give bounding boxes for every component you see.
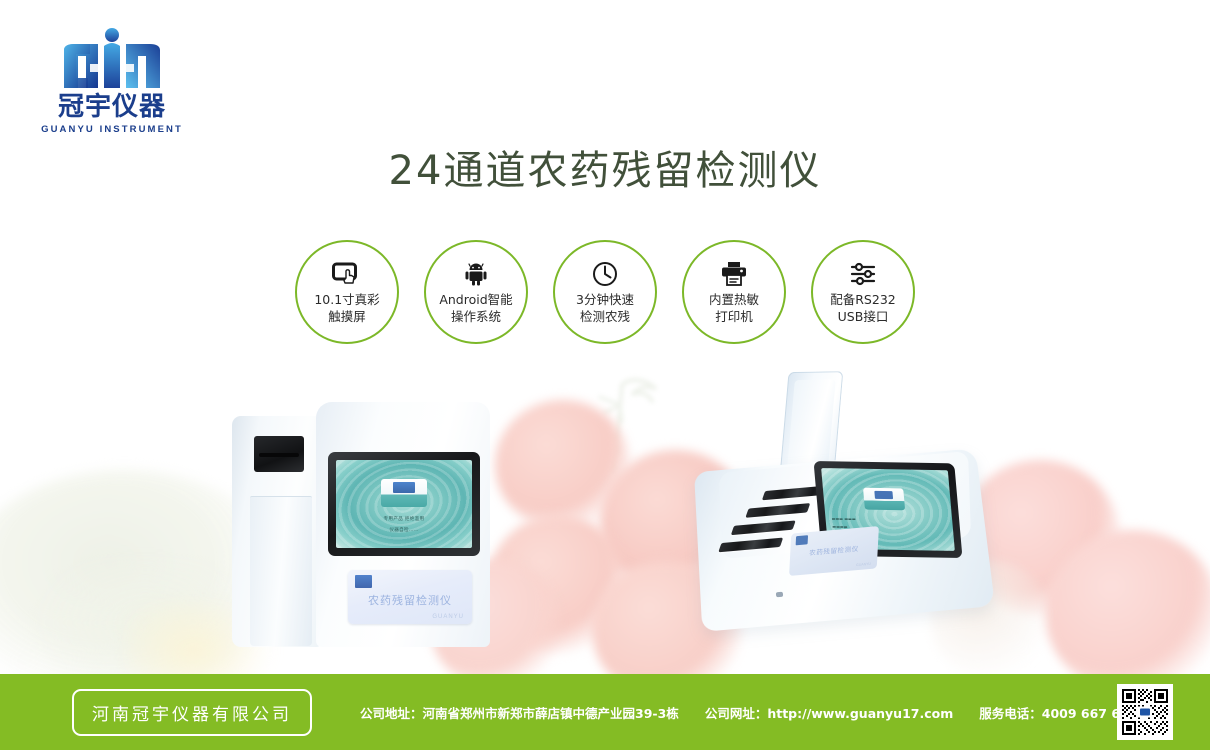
channel-row bbox=[718, 538, 783, 553]
feature-touchscreen[interactable]: 10.1寸真彩 触摸屏 bbox=[295, 240, 399, 344]
feature-list: 10.1寸真彩 触摸屏 Android智能 操作系统 bbox=[0, 240, 1210, 352]
qr-code[interactable] bbox=[1117, 684, 1173, 740]
left-device-image: 专用产品 拒绝滥用 仪器自检…… 农药残留检测仪 GUANYU bbox=[232, 402, 490, 647]
panel-label-sub: GUANYU bbox=[432, 614, 464, 620]
brand-logo: 冠宇仪器 GUANYU INSTRUMENT bbox=[36, 26, 188, 138]
footer-address: 公司地址：河南省郑州市新郑市薛店镇中德产业园39-3栋 bbox=[360, 703, 679, 722]
tomato-watermark bbox=[495, 400, 630, 530]
qr-code-pattern bbox=[1120, 687, 1170, 737]
screen-logo-card bbox=[864, 488, 906, 511]
footer-bar: 河南冠宇仪器有限公司 公司地址：河南省郑州市新郑市薛店镇中德产业园39-3栋 公… bbox=[0, 674, 1210, 750]
feature-label: 10.1寸真彩 触摸屏 bbox=[314, 292, 379, 326]
feature-fast-detection[interactable]: 3分钟快速 检测农残 bbox=[553, 240, 657, 344]
panel-label-sub: GUANYU bbox=[856, 562, 871, 567]
printer-slot bbox=[254, 436, 304, 472]
product-poster-page: 冠宇仪器 GUANYU INSTRUMENT 24通道农药残留检测仪 10.1寸… bbox=[0, 0, 1210, 750]
printer-icon bbox=[720, 259, 748, 289]
screen-text-line2: 仪器自检…… bbox=[336, 527, 472, 536]
feature-label: 内置热敏 打印机 bbox=[709, 292, 759, 326]
brand-name-cn: 冠宇仪器 bbox=[36, 94, 188, 121]
android-icon bbox=[463, 259, 489, 289]
left-device-panel-label: 农药残留检测仪 GUANYU bbox=[348, 570, 472, 624]
status-indicator bbox=[776, 592, 783, 598]
footer-phone-label: 服务电话： bbox=[979, 706, 1042, 721]
tomato-watermark bbox=[488, 515, 628, 653]
channel-row bbox=[731, 520, 796, 535]
footer-website[interactable]: 公司网址：http://www.guanyu17.com bbox=[705, 703, 953, 722]
footer-company-name: 河南冠宇仪器有限公司 bbox=[72, 689, 312, 736]
touchscreen-icon bbox=[332, 259, 362, 289]
footer-website-value[interactable]: http://www.guanyu17.com bbox=[767, 706, 953, 721]
feature-thermal-printer[interactable]: 内置热敏 打印机 bbox=[682, 240, 786, 344]
footer-contact-info: 公司地址：河南省郑州市新郑市薛店镇中德产业园39-3栋 公司网址：http://… bbox=[360, 703, 1137, 722]
screen-logo-card bbox=[381, 479, 427, 507]
qr-center-logo bbox=[1138, 707, 1152, 718]
left-device-side-panel bbox=[232, 416, 320, 647]
footer-address-label: 公司地址： bbox=[360, 706, 423, 721]
left-device-screen: 专用产品 拒绝滥用 仪器自检…… bbox=[336, 460, 472, 548]
feature-android-os[interactable]: Android智能 操作系统 bbox=[424, 240, 528, 344]
left-device-body: 专用产品 拒绝滥用 仪器自检…… 农药残留检测仪 GUANYU bbox=[316, 402, 490, 647]
screen-text-line1: 专用产品 拒绝滥用 bbox=[336, 516, 472, 525]
tomato-watermark bbox=[1045, 530, 1210, 695]
sample-door bbox=[250, 496, 312, 646]
right-device-image: ▬▬▬ ▬▬▬▬▬▬▬ 农药残留检测仪 GUANYU bbox=[690, 370, 990, 645]
footer-phone: 服务电话：4009 667 696 bbox=[979, 703, 1137, 722]
panel-logo-icon bbox=[355, 575, 372, 588]
brand-name-en: GUANYU INSTRUMENT bbox=[36, 124, 188, 135]
panel-label-text: 农药残留检测仪 bbox=[348, 592, 472, 608]
guanyu-logo-mark bbox=[60, 26, 164, 92]
tomato-vine-watermark bbox=[560, 375, 690, 495]
right-device-panel-label: 农药残留检测仪 GUANYU bbox=[789, 526, 879, 576]
panel-logo-icon bbox=[796, 535, 808, 545]
footer-website-label: 公司网址： bbox=[705, 706, 768, 721]
clock-icon bbox=[592, 259, 618, 289]
feature-label: 3分钟快速 检测农残 bbox=[576, 292, 634, 326]
page-title: 24通道农药残留检测仪 bbox=[0, 138, 1210, 196]
sliders-icon bbox=[849, 259, 877, 289]
feature-label: Android智能 操作系统 bbox=[439, 292, 512, 326]
feature-label: 配备RS232 USB接口 bbox=[830, 292, 895, 326]
channel-row bbox=[745, 503, 810, 518]
footer-address-value: 河南省郑州市新郑市薛店镇中德产业园39-3栋 bbox=[423, 706, 679, 721]
left-device-screen-bezel: 专用产品 拒绝滥用 仪器自检…… bbox=[328, 452, 480, 556]
feature-interfaces[interactable]: 配备RS232 USB接口 bbox=[811, 240, 915, 344]
